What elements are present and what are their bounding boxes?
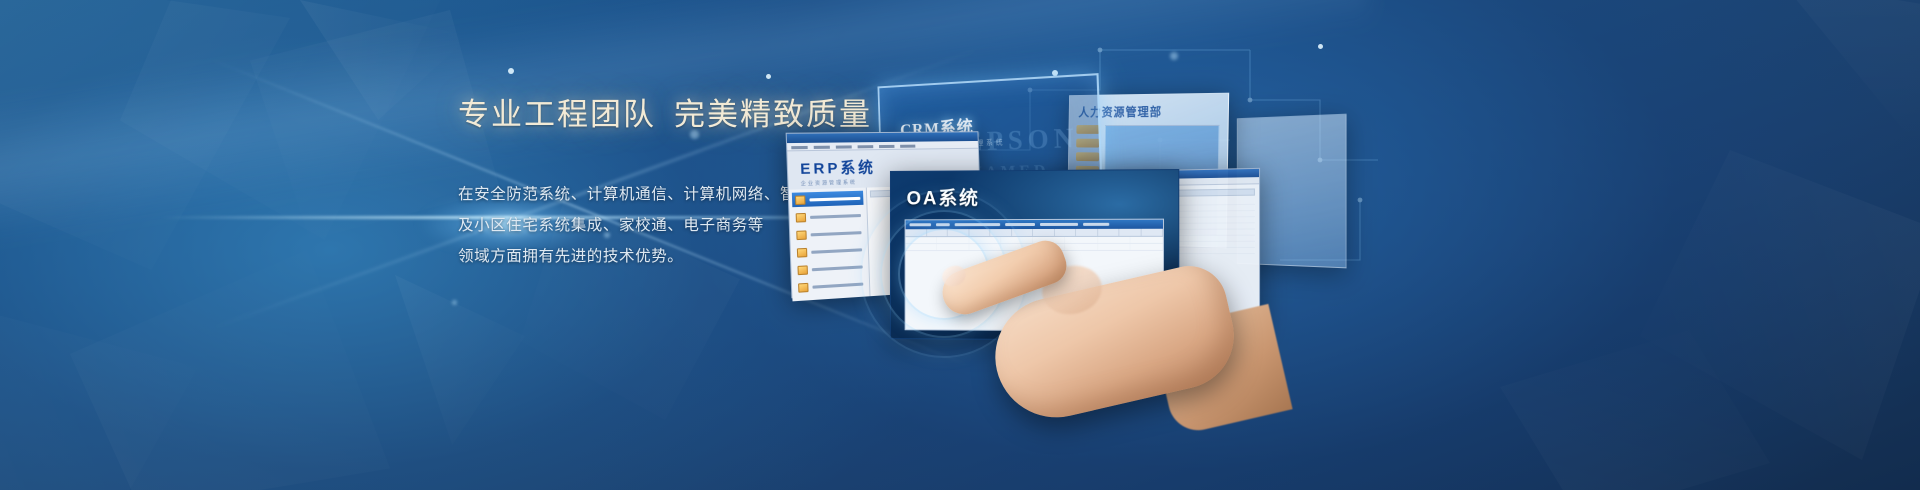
polygon-shard bbox=[70, 250, 390, 490]
oa-title: OA系统 bbox=[907, 183, 980, 210]
polygon-shard bbox=[0, 300, 240, 490]
polygon-shard bbox=[120, 0, 450, 240]
erp-nav-item[interactable] bbox=[793, 225, 865, 242]
pointing-hand bbox=[930, 220, 1230, 460]
folder-icon bbox=[797, 247, 808, 257]
bokeh-dot bbox=[452, 300, 457, 305]
erp-title: ERP系统 bbox=[800, 159, 876, 178]
erp-nav-item[interactable] bbox=[792, 208, 864, 225]
folder-icon bbox=[796, 212, 807, 222]
folder-icon bbox=[798, 282, 809, 292]
polygon-shard bbox=[395, 275, 525, 445]
folder-icon bbox=[795, 195, 806, 205]
polygon-shard bbox=[1640, 150, 1920, 460]
erp-nav-item[interactable] bbox=[795, 276, 867, 295]
folder-icon bbox=[796, 230, 807, 240]
polygon-shard bbox=[0, 0, 290, 270]
polygon-shard bbox=[300, 0, 470, 120]
headline-part-1: 专业工程团队 bbox=[458, 97, 656, 132]
erp-nav-item[interactable] bbox=[794, 259, 866, 277]
hero-banner: 专业工程团队完美精致质量 在安全防范系统、计算机通信、计算机网络、智能大厦 及小… bbox=[0, 0, 1920, 490]
erp-nav-item[interactable] bbox=[792, 191, 864, 207]
erp-nav-item[interactable] bbox=[794, 242, 866, 260]
folder-icon bbox=[797, 265, 808, 275]
bokeh-dot bbox=[508, 68, 514, 74]
polygon-shard bbox=[1780, 0, 1920, 150]
polygon-shard bbox=[1500, 330, 1770, 490]
erp-nav[interactable] bbox=[789, 188, 871, 302]
